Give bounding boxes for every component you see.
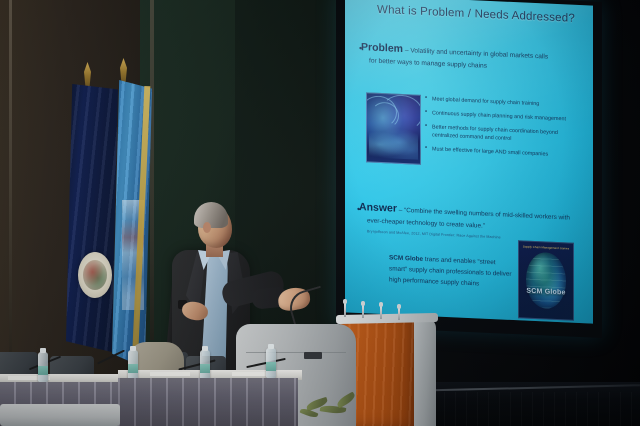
virginia-seal [78, 252, 112, 298]
virginia-seal-inner [83, 260, 107, 290]
table-papers [150, 372, 190, 376]
presentation-slide: What is Problem / Needs Addressed? • Pro… [345, 0, 593, 324]
lectern-mic-tip [361, 301, 365, 306]
wall-seam-secondary [150, 0, 154, 340]
lectern-mic-tip [379, 302, 383, 307]
lectern-mic-tip [397, 304, 401, 309]
problem-dash: – [405, 47, 409, 54]
slide-sub-bullets: Meet global demand for supply chain trai… [425, 95, 575, 166]
speaker-ear [203, 222, 211, 233]
decorative-plant [300, 392, 380, 426]
supply-chain-network-image [366, 92, 421, 164]
stage-step [0, 404, 120, 426]
globe-icon [526, 252, 566, 310]
sub-bullet-item: Better methods for supply chain coordina… [425, 123, 575, 146]
wall-seam [9, 0, 12, 360]
water-bottle-label [128, 364, 138, 373]
water-bottle-label [38, 366, 48, 375]
water-bottle-label [266, 362, 276, 371]
water-bottle-cap [40, 348, 46, 353]
speaker-hair [194, 202, 228, 228]
lectern-mic-stem [398, 308, 400, 320]
water-bottle-cap [202, 346, 208, 351]
network-world-map [369, 127, 418, 159]
presentation-photo: What is Problem / Needs Addressed? • Pro… [0, 0, 640, 426]
scm-logo-tagline: Supply Chain Management Games [522, 244, 570, 250]
water-bottle-cap [130, 346, 136, 351]
slide-closing-text: SCM Globe trans and enables “street smar… [389, 252, 514, 291]
table-skirt-pleats [118, 378, 298, 426]
lectern-panel-seam [246, 352, 346, 353]
globe-latitude-lines [526, 252, 566, 310]
slide-title: What is Problem / Needs Addressed? [371, 4, 581, 26]
head-table-skirt-section [118, 378, 298, 426]
scm-globe-logo: Supply Chain Management Games SCM Globe [518, 240, 574, 321]
virginia-state-flag [66, 84, 118, 352]
water-bottle-label [200, 364, 210, 373]
lectern-mic-stem [344, 303, 346, 317]
lectern-mic-stem [380, 306, 382, 319]
scm-logo-label: SCM Globe [519, 287, 573, 296]
sub-bullet-item: Continuous supply chain planning and ris… [425, 109, 575, 124]
plant-leaf [335, 392, 356, 409]
sub-bullet-item: Must be effective for large AND small co… [425, 145, 575, 160]
problem-line-1: Volatility and uncertainty in global mar… [410, 47, 548, 60]
lectern-nameplate [304, 352, 322, 359]
lectern-right-edge [414, 318, 436, 426]
problem-lead-label: Problem [361, 41, 403, 55]
lectern-mic-stem [362, 305, 364, 318]
water-bottle-cap [268, 344, 274, 349]
scm-globe-brand: SCM Globe [389, 254, 423, 263]
flag-folds [66, 84, 118, 352]
slide-content: What is Problem / Needs Addressed? • Pro… [345, 0, 593, 324]
lectern-mic-tip [343, 299, 347, 304]
network-arc [371, 102, 399, 129]
answer-dash: – [399, 207, 403, 214]
sub-bullet-item: Meet global demand for supply chain trai… [425, 95, 575, 110]
answer-lead-label: Answer [359, 201, 397, 215]
